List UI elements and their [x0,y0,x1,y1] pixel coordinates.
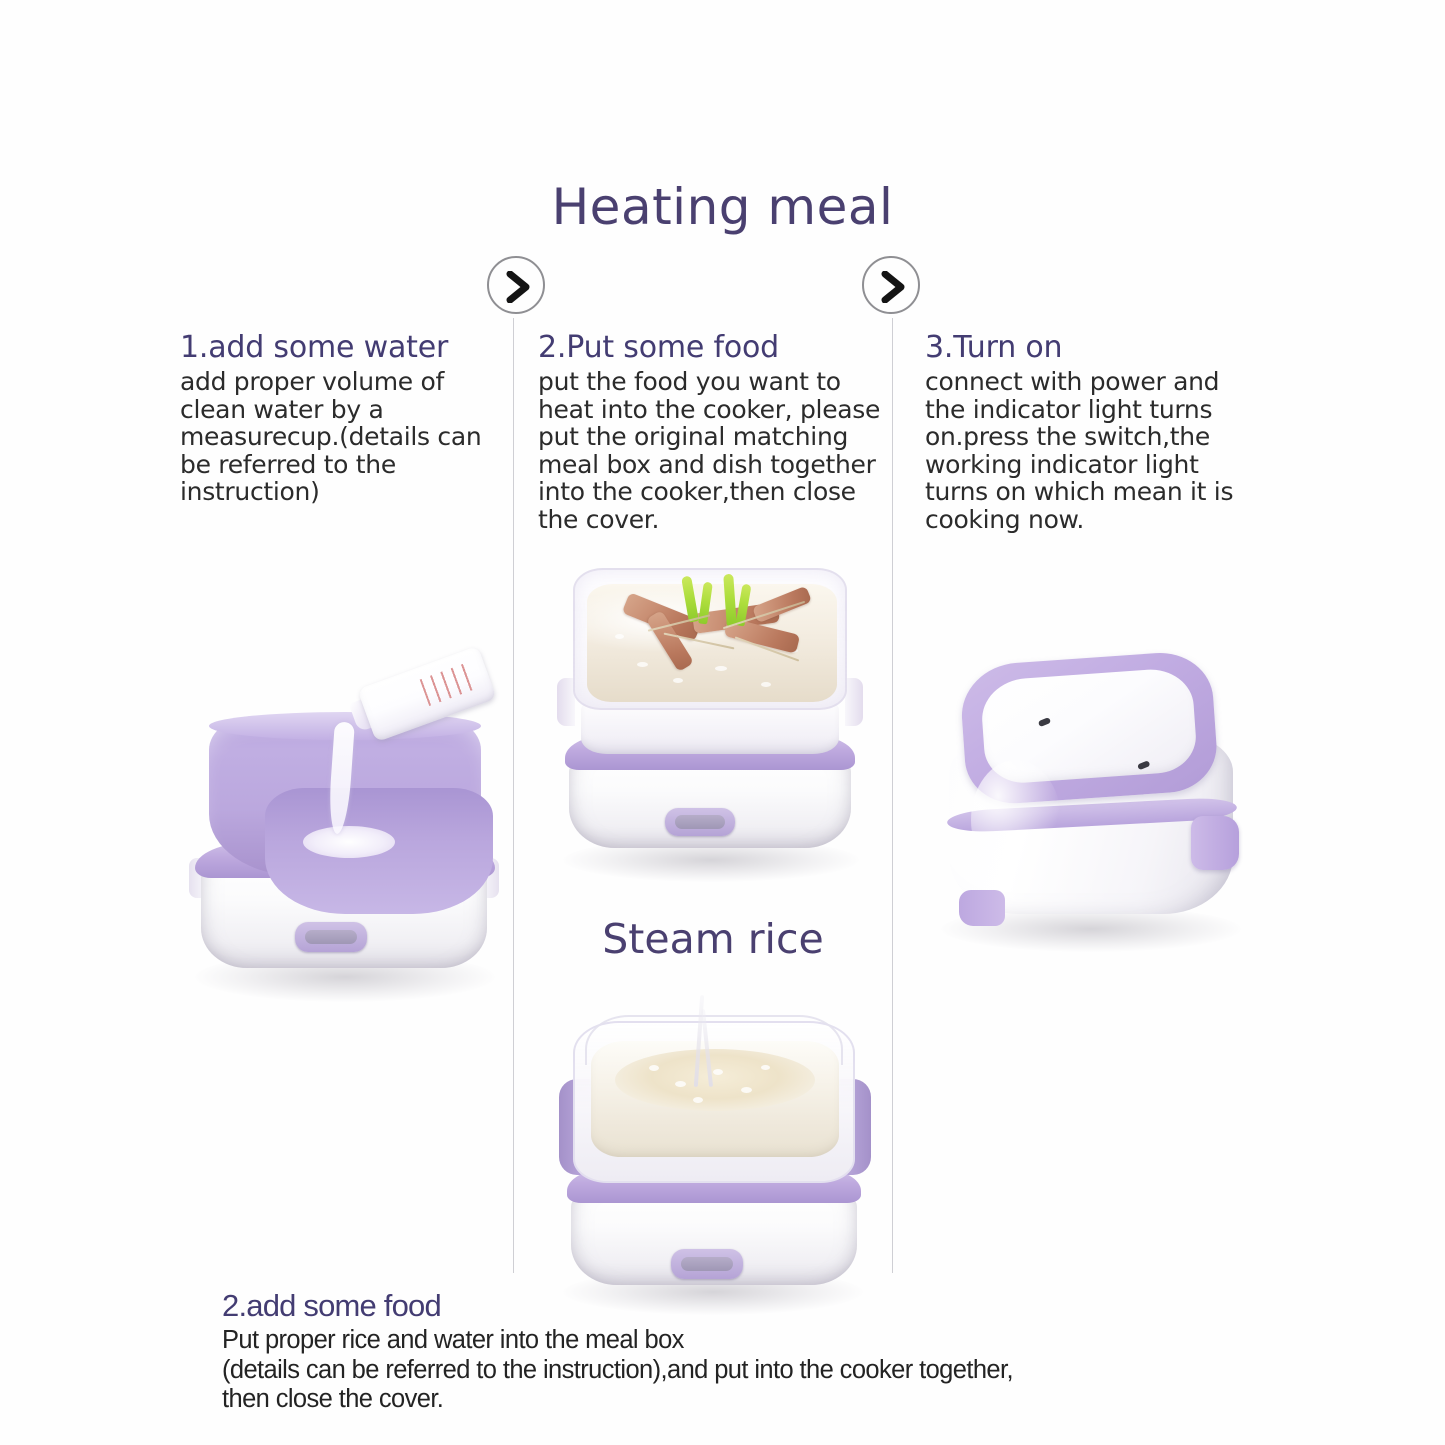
bottom-heading: 2.add some food [222,1288,1252,1324]
rice-grain [741,1087,752,1093]
rice-grain [715,666,727,671]
steam-rice-title: Steam rice [538,915,888,963]
rice-grain [713,1069,723,1075]
side-clip-right [845,678,863,726]
rice-grain [761,682,771,687]
steam-vent-hole-2 [1137,760,1150,770]
rice-grain [693,1097,703,1103]
rice-grain [673,678,683,683]
cooked-rice-surface [615,1049,815,1111]
product-image-add-water [175,660,515,1010]
water-pool [303,826,395,858]
rice-grain [761,1065,770,1070]
measuring-cup-graduations [420,662,478,706]
meal-box-with-food [573,568,847,710]
column-divider-2 [892,318,893,1273]
power-switch [665,808,735,836]
bottom-body-line-3: then close the cover. [222,1385,1252,1415]
rice-grain [637,662,648,667]
rice-grain [615,634,624,639]
step-2-text-block: 2.Put some food put the food you want to… [538,330,882,533]
steam-vent-hole-1 [1038,717,1051,727]
product-image-put-food [545,560,875,885]
chevron-right-icon-2 [862,256,920,314]
product-image-turn-on [925,640,1265,960]
step-3-heading: 3.Turn on [925,330,1255,366]
rice-grain [675,1081,686,1087]
step-2-body: put the food you want to heat into the c… [538,368,882,533]
side-latch-right [1191,816,1239,870]
step-2-heading: 2.Put some food [538,330,882,366]
rice-grain [649,1065,659,1071]
step-1-text-block: 1.add some water add proper volume of cl… [180,330,498,506]
step-3-text-block: 3.Turn on connect with power and the ind… [925,330,1255,533]
power-switch [671,1249,743,1279]
body-highlight [971,760,1061,880]
power-switch [295,922,367,952]
product-image-steam-rice [545,995,885,1315]
side-latch-left [959,890,1005,926]
step-3-body: connect with power and the indicator lig… [925,368,1255,533]
bottom-body-line-1: Put proper rice and water into the meal … [222,1326,1252,1356]
step-1-body: add proper volume of clean water by a me… [180,368,498,506]
bottom-text-block: 2.add some food Put proper rice and wate… [222,1288,1252,1415]
chevron-right-icon-1 [487,256,545,314]
step-1-heading: 1.add some water [180,330,498,366]
bottom-body-line-2: (details can be referred to the instruct… [222,1356,1252,1386]
infographic-page: Heating meal 1.add some water add proper… [0,0,1445,1445]
page-title: Heating meal [0,178,1445,236]
